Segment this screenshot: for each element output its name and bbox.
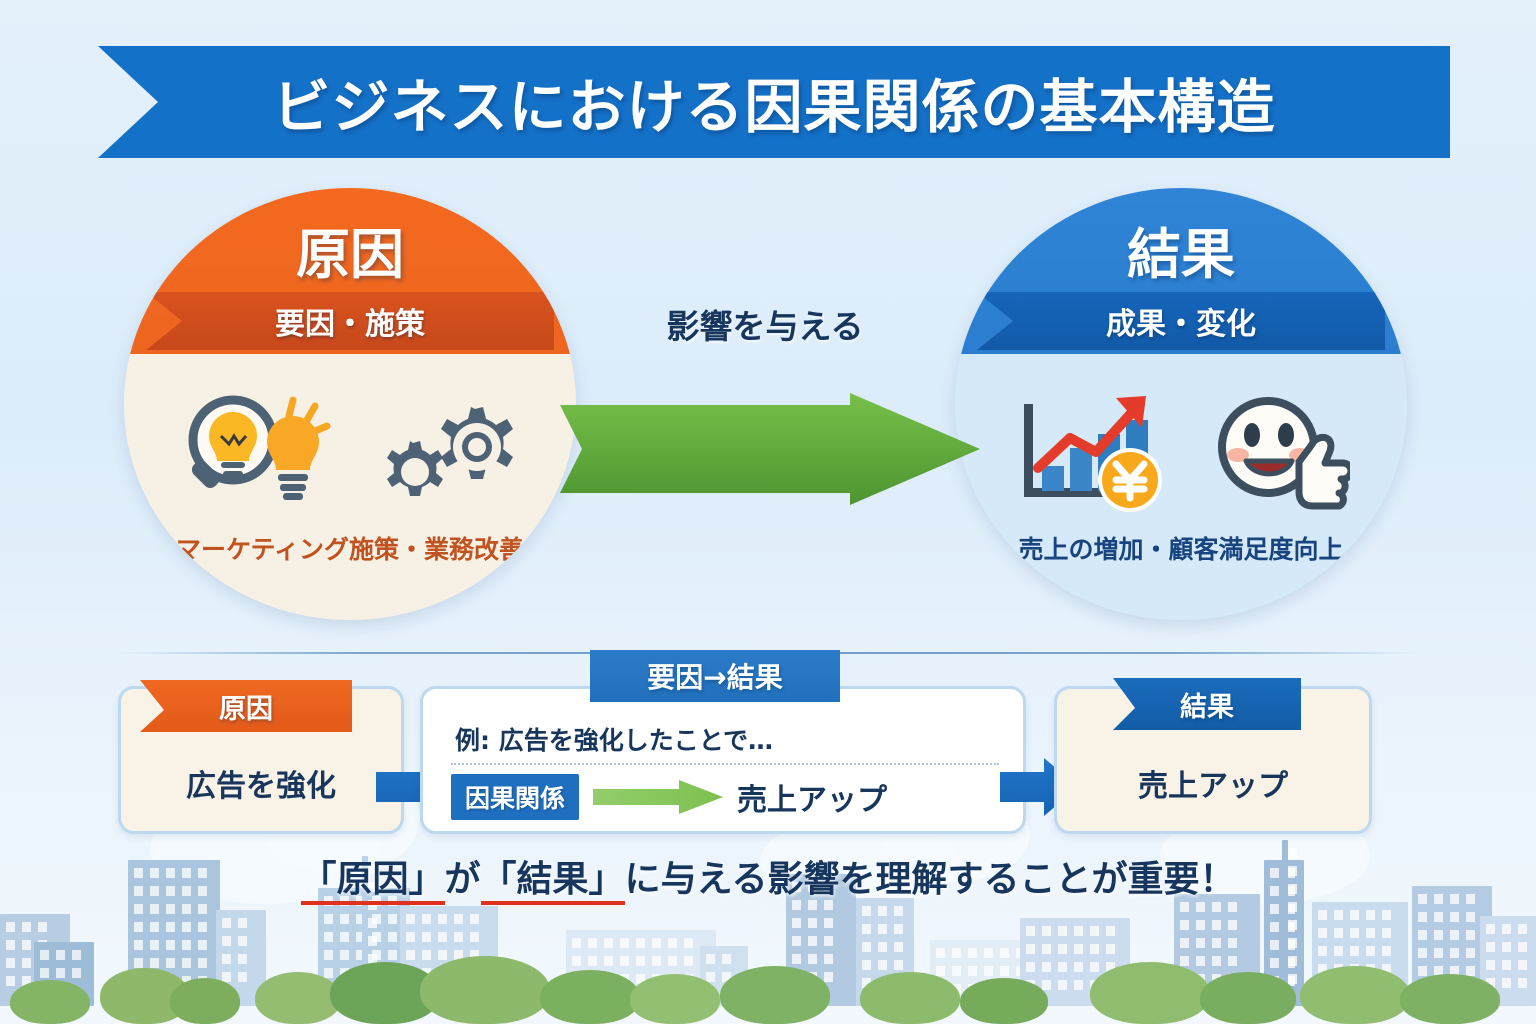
building-window [1418,912,1427,922]
tree [720,966,830,1024]
building-window [792,918,801,928]
cause-to-effect-tab: 要因→結果 [590,650,840,702]
cause-heading: 原因 [124,210,576,289]
building-window [668,938,677,948]
building-window [1074,926,1083,936]
building-window [1334,928,1343,938]
building-window [198,922,207,932]
building-window [150,904,159,914]
building-window [824,918,833,928]
cause-to-effect-tab-label: 要因→結果 [647,656,782,696]
building-window [38,922,47,932]
building-window [1434,930,1443,940]
smiley-thumbs-up-icon [1210,391,1350,513]
cause-band: 要因・施策 [146,292,554,350]
footer-conn-1: が [445,859,481,900]
building-window [588,938,597,948]
building-window [1106,944,1115,954]
building-window [1180,938,1189,948]
building-window [6,922,15,932]
causality-chip: 因果関係 [451,774,579,820]
footer-message: 「原因」が「結果」に与える影響を理解することが重要！ [0,850,1536,902]
building-window [470,932,479,942]
building-window [1042,944,1051,954]
building-window [1466,912,1475,922]
dotted-divider [451,763,999,765]
building-window [1196,902,1205,912]
page-title: ビジネスにおける因果関係の基本構造 [272,60,1275,144]
building-window [150,940,159,950]
building-window [620,938,629,948]
building-window [1228,920,1237,930]
building-window [454,914,463,924]
building-window [1502,924,1511,934]
building-window [1270,922,1279,932]
effect-heading: 結果 [955,210,1407,289]
building-window [470,914,479,924]
building-window [1212,938,1221,948]
causality-detail-card: 例: 広告を強化したことで… 因果関係 売上アップ [420,686,1026,834]
building-window [1350,910,1359,920]
building-window [340,932,349,942]
building-window [1106,926,1115,936]
building-window [22,940,31,950]
building-window [1288,902,1297,912]
building-window [1270,904,1279,914]
building-window [238,936,247,946]
building-window [1288,920,1297,930]
influence-label: 影響を与える [600,300,930,348]
building-window [894,942,903,952]
building-window [1518,924,1527,934]
building-window [1518,942,1527,952]
building-window [1228,938,1237,948]
cause-circle: マーケティング施策・業務改善 原因 要因・施策 [124,188,576,620]
footer-tail: に与える影響を理解することが重要！ [625,859,1236,900]
causality-row: 因果関係 売上アップ [451,773,999,821]
building-window [438,932,447,942]
tree [540,970,640,1024]
building-window [1026,926,1035,936]
building-window [1502,942,1511,952]
building-window [198,940,207,950]
building-window [1180,920,1189,930]
building-window [324,914,333,924]
building-window [862,906,871,916]
building-window [894,906,903,916]
effect-tag-label: 結果 [1180,685,1234,724]
building-window [324,932,333,942]
building-window [1450,912,1459,922]
cause-tag: 原因 [140,680,352,732]
building-window [1318,928,1327,938]
gears-icon [375,393,525,511]
building-window [604,938,613,948]
building-window [150,922,159,932]
building-window [454,932,463,942]
building-window [388,932,397,942]
building-window [636,938,645,948]
influence-arrow-icon [560,393,980,505]
effect-example-text: 売上アップ [1057,761,1369,805]
building-window [438,914,447,924]
tree-row [0,954,1536,1024]
example-sentence: 例: 広告を強化したことで… [455,721,995,757]
building-window [1486,924,1495,934]
building-window [340,914,349,924]
building-window [1180,902,1189,912]
effect-circle-body: 売上の増加・顧客満足度向上 [955,354,1407,620]
effect-tag: 結果 [1113,678,1301,730]
cause-caption: マーケティング施策・業務改善 [124,530,576,566]
building-window [422,914,431,924]
growth-bar-chart-icon [1012,390,1180,514]
building-window [1196,920,1205,930]
cause-example-text: 広告を強化 [121,761,401,805]
building-window [862,942,871,952]
building-window [198,904,207,914]
building-window [878,942,887,952]
tree [10,980,90,1024]
building-window [1270,940,1279,950]
building-window [368,918,377,928]
building-window [134,904,143,914]
building-window [422,932,431,942]
building-window [406,932,415,942]
effect-icon-group [955,382,1407,522]
building-window [1350,928,1359,938]
building-window [1486,942,1495,952]
building-window [824,936,833,946]
building-window [1026,944,1035,954]
building-window [1212,902,1221,912]
building-window [166,940,175,950]
building-window [1196,938,1205,948]
building-window [1382,928,1391,938]
building-window [166,922,175,932]
mini-arrow-icon [593,780,723,814]
building-window [684,938,693,948]
building-window [1366,928,1375,938]
building-window [388,914,397,924]
building-window [1228,902,1237,912]
cause-circle-body: マーケティング施策・業務改善 [124,354,576,620]
building-window [1090,926,1099,936]
building-window [572,938,581,948]
building-window [238,918,247,928]
building-window [1318,910,1327,920]
tree [420,956,550,1024]
tree [960,978,1048,1024]
building-window [1382,910,1391,920]
effect-band: 成果・変化 [977,292,1385,350]
tree [1090,962,1210,1024]
causality-result-text: 売上アップ [737,775,887,819]
tree [1300,966,1410,1024]
footer-cause-term: 「原因」 [301,859,445,905]
building-window [1466,930,1475,940]
infographic-canvas: ビジネスにおける因果関係の基本構造 [0,0,1536,1024]
building-window [878,906,887,916]
building-window [134,940,143,950]
building-window [1058,926,1067,936]
building-window [166,904,175,914]
building-window [1366,910,1375,920]
building-window [6,940,15,950]
footer-effect-term: 「結果」 [481,859,625,905]
building-window [406,914,415,924]
yen-coin-icon [1098,448,1162,512]
building-window [1418,930,1427,940]
building-window [1074,944,1083,954]
building-window [22,922,31,932]
building-window [1334,910,1343,920]
building-window [1042,926,1051,936]
building-window [1450,930,1459,940]
building-window [1212,920,1221,930]
effect-band-label: 成果・変化 [1106,299,1256,343]
building-window [1288,938,1297,948]
tree [1200,972,1296,1024]
building-window [222,936,231,946]
building-window [1058,944,1067,954]
building-window [792,936,801,946]
tree [1400,974,1500,1024]
building-window [894,924,903,934]
building-window [368,936,377,946]
cause-band-label: 要因・施策 [275,299,425,343]
magnifier-lightbulb-icon [175,392,345,512]
building-window [182,922,191,932]
title-banner: ビジネスにおける因果関係の基本構造 [98,46,1450,158]
building-window [222,918,231,928]
tree [860,972,960,1024]
building-window [862,924,871,934]
building-window [808,918,817,928]
building-window [134,922,143,932]
building-window [652,938,661,948]
building-window [182,940,191,950]
building-window [1090,944,1099,954]
building-window [808,936,817,946]
building-window [878,924,887,934]
tree [630,974,720,1024]
building-window [1434,912,1443,922]
effect-caption: 売上の増加・顧客満足度向上 [955,530,1407,566]
tree [170,978,240,1024]
building-window [182,904,191,914]
tree [255,972,341,1024]
cause-icon-group [124,382,576,522]
cause-tag-label: 原因 [219,687,273,726]
effect-circle: 売上の増加・顧客満足度向上 結果 成果・変化 [955,188,1407,620]
